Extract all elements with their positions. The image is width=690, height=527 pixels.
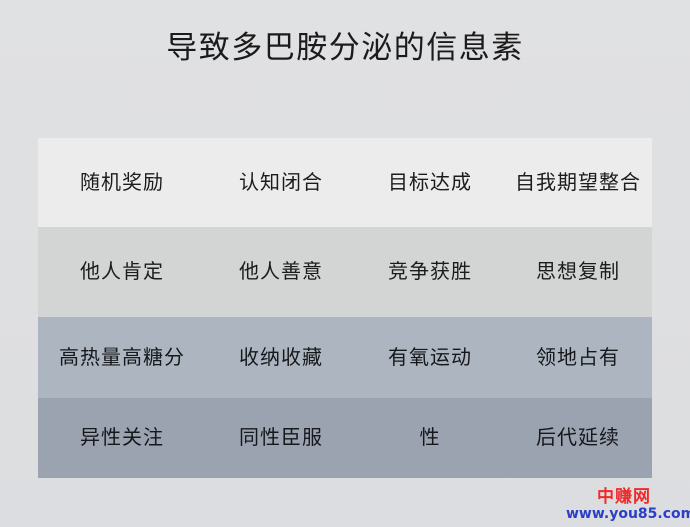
table-cell: 后代延续 bbox=[504, 424, 652, 452]
table-cell: 他人肯定 bbox=[38, 258, 206, 286]
watermark: 中赚网 www.you85.com bbox=[566, 489, 682, 521]
table-cell: 竞争获胜 bbox=[356, 258, 504, 286]
table-cell: 异性关注 bbox=[38, 424, 206, 452]
slide-canvas: 导致多巴胺分泌的信息素 随机奖励 认知闭合 目标达成 自我期望整合 他人肯定 他… bbox=[0, 0, 690, 527]
table-cell: 高热量高糖分 bbox=[38, 344, 206, 372]
table-cell: 随机奖励 bbox=[38, 169, 206, 197]
table-cell: 收纳收藏 bbox=[206, 344, 356, 372]
table-cell: 他人善意 bbox=[206, 258, 356, 286]
table-cell: 自我期望整合 bbox=[504, 169, 652, 197]
table-cell: 目标达成 bbox=[356, 169, 504, 197]
table-cell: 性 bbox=[356, 424, 504, 452]
table-row: 他人肯定 他人善意 竞争获胜 思想复制 bbox=[38, 227, 652, 317]
pheromone-matrix: 随机奖励 认知闭合 目标达成 自我期望整合 他人肯定 他人善意 竞争获胜 思想复… bbox=[38, 138, 652, 478]
table-row: 异性关注 同性臣服 性 后代延续 bbox=[38, 398, 652, 478]
table-cell: 有氧运动 bbox=[356, 344, 504, 372]
table-cell: 同性臣服 bbox=[206, 424, 356, 452]
page-title: 导致多巴胺分泌的信息素 bbox=[0, 27, 690, 69]
watermark-url: www.you85.com bbox=[566, 507, 682, 521]
table-cell: 思想复制 bbox=[504, 258, 652, 286]
table-cell: 认知闭合 bbox=[206, 169, 356, 197]
watermark-brand: 中赚网 bbox=[566, 489, 682, 506]
table-row: 高热量高糖分 收纳收藏 有氧运动 领地占有 bbox=[38, 317, 652, 398]
table-cell: 领地占有 bbox=[504, 344, 652, 372]
table-row: 随机奖励 认知闭合 目标达成 自我期望整合 bbox=[38, 138, 652, 227]
